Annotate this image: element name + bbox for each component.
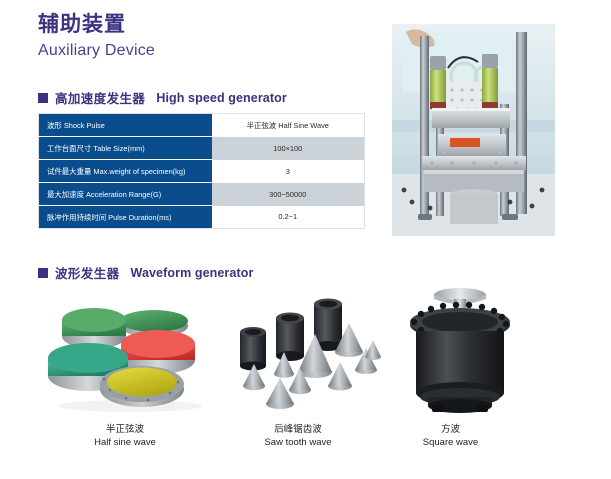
product-photo-saw-tooth-wave xyxy=(228,294,408,414)
machine-photo-graphic xyxy=(392,24,555,236)
caption-cn: 后峰锯齿波 xyxy=(208,424,388,437)
spec-label: 脉冲作用持续时间 Pulse Duration(ms) xyxy=(39,206,212,229)
spec-label: 最大加速度 Acceleration Range(G) xyxy=(39,183,212,206)
table-row: 最大加速度 Acceleration Range(G) 300~50000 xyxy=(39,183,365,206)
section-heading-waveform-generator: 波形发生器 Waveform generator xyxy=(38,263,253,282)
high-speed-generator-spec-table: 波形 Shock Pulse 半正弦波 Half Sine Wave 工作台面尺… xyxy=(38,113,365,229)
saw-tooth-wave-cones-graphic xyxy=(228,294,388,414)
square-bullet-icon xyxy=(38,93,48,103)
table-row: 脉冲作用持续时间 Pulse Duration(ms) 0.2~1 xyxy=(39,206,365,229)
caption-en: Square wave xyxy=(363,437,538,450)
section-label-en: High speed generator xyxy=(156,91,287,105)
section-label-cn: 高加速度发生器 xyxy=(55,88,145,107)
spec-label: 波形 Shock Pulse xyxy=(39,114,212,137)
spec-value: 100×100 xyxy=(212,137,365,160)
half-sine-wave-discs-graphic xyxy=(38,294,218,414)
caption-square-wave: 方波 Square wave xyxy=(363,424,538,449)
caption-en: Saw tooth wave xyxy=(208,437,388,450)
caption-saw-tooth-wave: 后峰锯齿波 Saw tooth wave xyxy=(208,424,388,449)
section-label-en: Waveform generator xyxy=(131,266,254,280)
table-row: 工作台面尺寸 Table Size(mm) 100×100 xyxy=(39,137,365,160)
spec-value: 3 xyxy=(212,160,365,183)
section-heading-high-speed-generator: 高加速度发生器 High speed generator xyxy=(38,88,287,107)
page-title: 辅助装置 Auxiliary Device xyxy=(38,12,155,62)
caption-cn: 方波 xyxy=(363,424,538,437)
product-photo-half-sine-wave xyxy=(38,294,218,414)
section-label-cn: 波形发生器 xyxy=(55,263,120,282)
product-photo-square-wave xyxy=(390,281,530,414)
page-title-cn: 辅助装置 xyxy=(38,12,155,38)
spec-label: 试件最大重量 Max.weight of specimen(kg) xyxy=(39,160,212,183)
spec-value: 0.2~1 xyxy=(212,206,365,229)
auxiliary-device-page: 辅助装置 Auxiliary Device 高加速度发生器 High speed… xyxy=(0,0,611,479)
spec-value: 半正弦波 Half Sine Wave xyxy=(212,114,365,137)
caption-half-sine-wave: 半正弦波 Half sine wave xyxy=(35,424,215,449)
table-row: 试件最大重量 Max.weight of specimen(kg) 3 xyxy=(39,160,365,183)
table-row: 波形 Shock Pulse 半正弦波 Half Sine Wave xyxy=(39,114,365,137)
caption-cn: 半正弦波 xyxy=(35,424,215,437)
spec-value: 300~50000 xyxy=(212,183,365,206)
caption-en: Half sine wave xyxy=(35,437,215,450)
spec-label: 工作台面尺寸 Table Size(mm) xyxy=(39,137,212,160)
square-wave-actuator-graphic xyxy=(390,281,530,414)
square-bullet-icon xyxy=(38,268,48,278)
page-title-en: Auxiliary Device xyxy=(38,40,155,62)
high-speed-generator-photo xyxy=(392,24,555,236)
